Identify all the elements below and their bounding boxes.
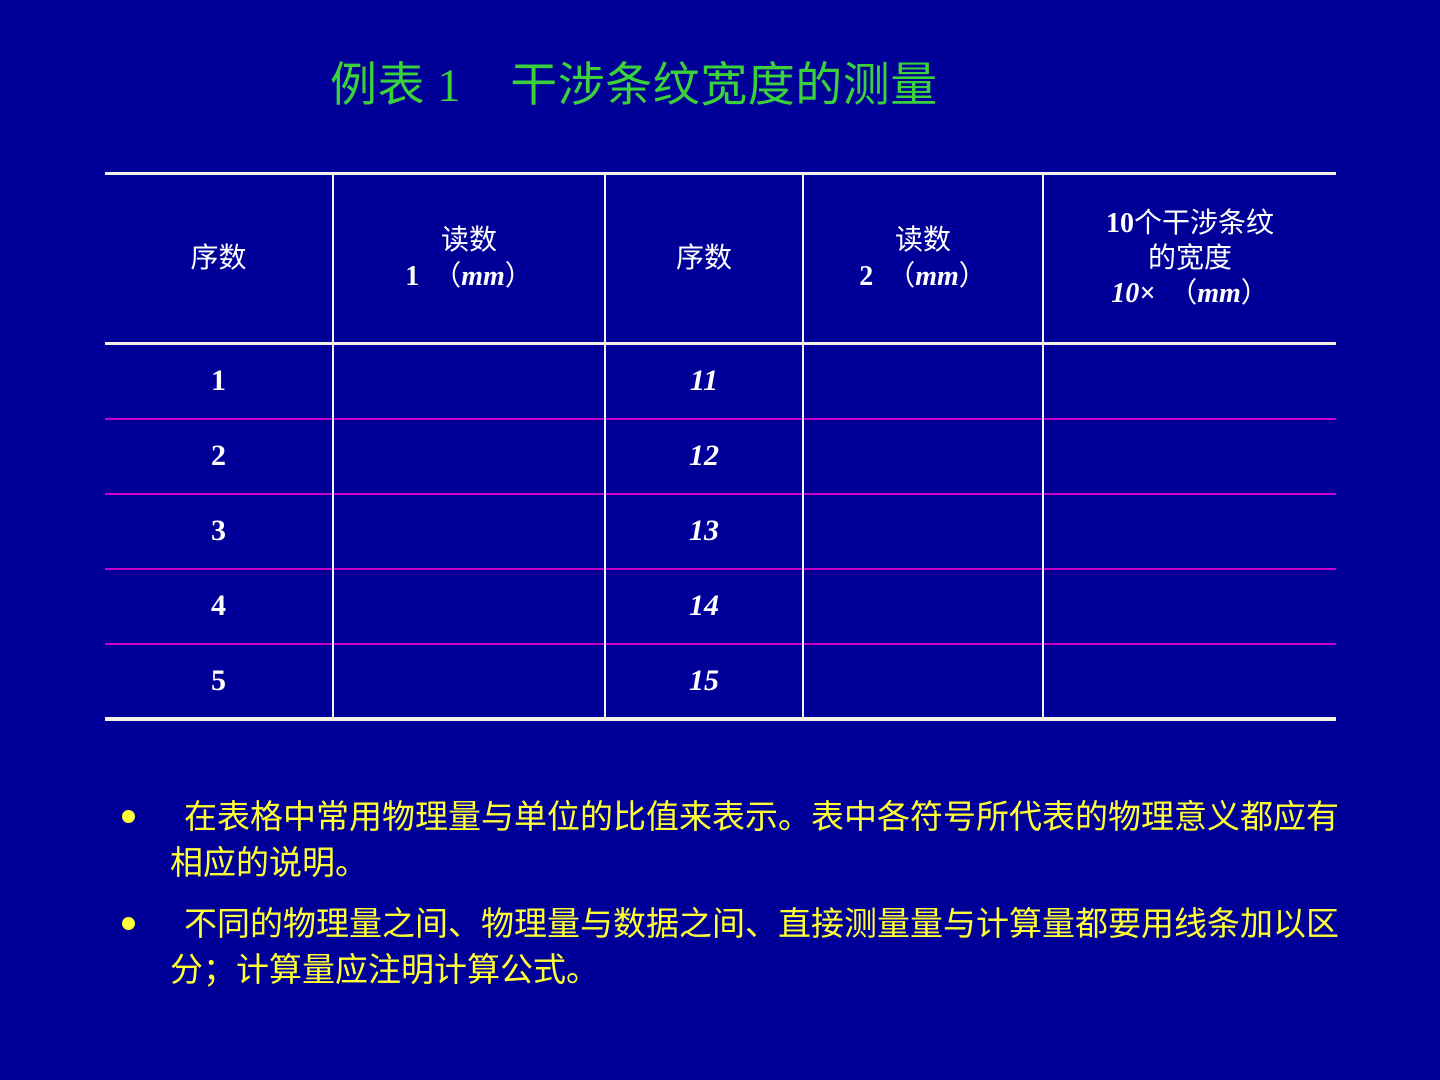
table-header-row: 序数 读数 1（mm） 序数 读数 2（mm） 10个干涉条纹 的宽度 10×（…: [105, 174, 1336, 344]
cell-reading-2: [803, 344, 1043, 419]
table-row: 414: [105, 569, 1336, 644]
header-cell-index-a: 序数: [105, 174, 333, 344]
cell-reading-2: [803, 419, 1043, 494]
paren-open-icon: （: [1169, 278, 1197, 309]
header-cell-index-b: 序数: [605, 174, 803, 344]
cell-reading-2: [803, 494, 1043, 569]
cell-fringe-width: [1043, 344, 1336, 419]
cell-index-b: 15: [605, 644, 803, 719]
cell-reading-2: [803, 569, 1043, 644]
header-fringe-unit: mm: [1197, 278, 1241, 309]
header-fringe-line2: 的宽度: [1044, 241, 1336, 276]
cell-reading-1: [333, 344, 605, 419]
cell-reading-1: [333, 419, 605, 494]
cell-fringe-width: [1043, 494, 1336, 569]
table-row: 515: [105, 644, 1336, 719]
paren-close-icon: ）: [959, 261, 987, 292]
header-cell-reading-2: 读数 2（mm）: [803, 174, 1043, 344]
cell-index-b: 11: [605, 344, 803, 419]
notes-list: 在表格中常用物理量与单位的比值来表示。表中各符号所代表的物理意义都应有相应的说明…: [108, 796, 1358, 1010]
header-reading-1-label: 读数: [334, 223, 604, 258]
cell-fringe-width: [1043, 644, 1336, 719]
header-index-a-label: 序数: [105, 241, 332, 276]
paren-close-icon: ）: [505, 261, 533, 292]
header-reading-1-unit-line: 1（mm）: [334, 259, 604, 294]
cell-index-b: 12: [605, 419, 803, 494]
cell-fringe-width: [1043, 569, 1336, 644]
cell-index-a: 4: [105, 569, 333, 644]
header-index-b-label: 序数: [606, 241, 802, 276]
paren-open-icon: （: [887, 261, 915, 292]
cell-index-a: 2: [105, 419, 333, 494]
header-reading-2-number: 2: [859, 261, 873, 292]
cell-reading-1: [333, 644, 605, 719]
table-row: 212: [105, 419, 1336, 494]
cell-index-a: 3: [105, 494, 333, 569]
cell-index-b: 14: [605, 569, 803, 644]
header-reading-2-unit: mm: [915, 261, 959, 292]
header-fringe-factor: 10×: [1111, 278, 1155, 309]
header-fringe-line1: 10个干涉条纹: [1044, 206, 1336, 241]
list-item: 不同的物理量之间、物理量与数据之间、直接测量量与计算量都要用线条加以区分；计算量…: [108, 903, 1358, 994]
bullet-dot-icon: [122, 810, 135, 823]
table-row: 313: [105, 494, 1336, 569]
header-reading-2-unit-line: 2（mm）: [804, 259, 1042, 294]
measurement-table: 序数 读数 1（mm） 序数 读数 2（mm） 10个干涉条纹 的宽度 10×（…: [105, 172, 1336, 721]
header-fringe-count: 10: [1106, 208, 1134, 239]
cell-reading-1: [333, 494, 605, 569]
list-item: 在表格中常用物理量与单位的比值来表示。表中各符号所代表的物理意义都应有相应的说明…: [108, 796, 1358, 887]
header-reading-2-label: 读数: [804, 223, 1042, 258]
cell-index-a: 1: [105, 344, 333, 419]
bullet-dot-icon: [122, 917, 135, 930]
cell-reading-2: [803, 644, 1043, 719]
header-reading-1-number: 1: [405, 261, 419, 292]
header-cell-reading-1: 读数 1（mm）: [333, 174, 605, 344]
paren-close-icon: ）: [1241, 278, 1269, 309]
cell-reading-1: [333, 569, 605, 644]
cell-index-b: 13: [605, 494, 803, 569]
list-item-text: 不同的物理量之间、物理量与数据之间、直接测量量与计算量都要用线条加以区分；计算量…: [170, 907, 1339, 989]
header-cell-fringe-width: 10个干涉条纹 的宽度 10×（mm）: [1043, 174, 1336, 344]
table-body: 111212313414515: [105, 344, 1336, 719]
paren-open-icon: （: [433, 261, 461, 292]
header-fringe-text: 个干涉条纹: [1134, 208, 1274, 239]
header-fringe-unit-line: 10×（mm）: [1044, 276, 1336, 311]
cell-index-a: 5: [105, 644, 333, 719]
header-reading-1-unit: mm: [461, 261, 505, 292]
table-row: 111: [105, 344, 1336, 419]
cell-fringe-width: [1043, 419, 1336, 494]
page-title: 例表 1 干涉条纹宽度的测量: [330, 56, 1050, 116]
list-item-text: 在表格中常用物理量与单位的比值来表示。表中各符号所代表的物理意义都应有相应的说明…: [170, 800, 1339, 882]
